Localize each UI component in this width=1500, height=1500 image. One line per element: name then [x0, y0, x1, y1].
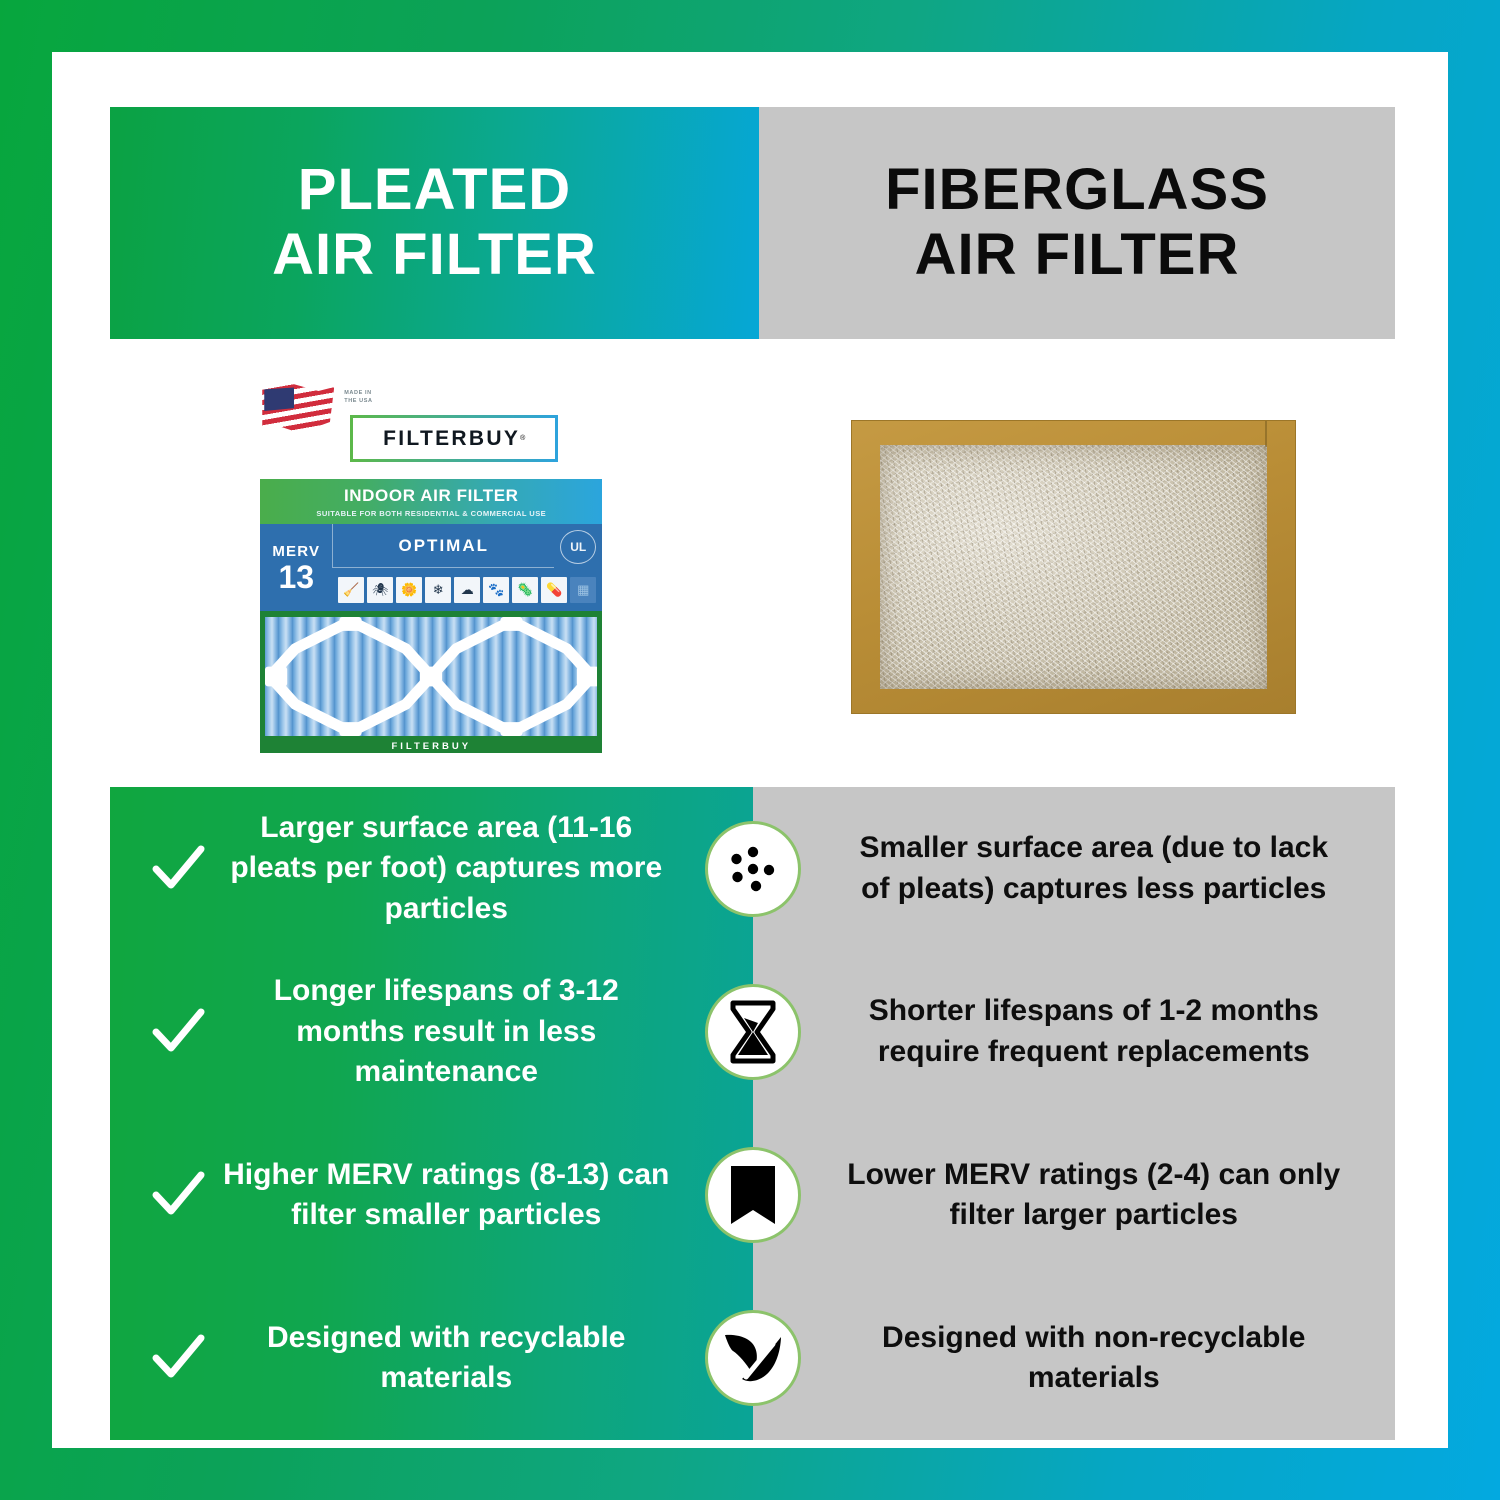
flag-union: [264, 387, 294, 411]
pleated-media-area: FILTERBUY: [260, 611, 602, 753]
row1-fiberglass-cell: Smaller surface area (due to lack of ple…: [753, 787, 1396, 950]
chip-icon-dander: 🐾: [483, 577, 509, 603]
merv-value: 13: [278, 561, 314, 593]
made-in-usa-text: MADE IN THE USA: [344, 390, 372, 406]
leaf-eco-icon: [705, 1310, 801, 1406]
infographic-root: PLEATED AIR FILTER FIBERGLASS AIR FILTER: [0, 0, 1500, 1500]
pleated-header-title: PLEATED AIR FILTER: [272, 158, 597, 288]
row3-fiberglass-cell: Lower MERV ratings (2-4) can only filter…: [753, 1114, 1396, 1277]
filterbuy-logo-box: FILTERBUY®: [350, 415, 558, 462]
fiberglass-media: [880, 445, 1267, 689]
row4-fiberglass-text: Designed with non-recyclable materials: [845, 1318, 1344, 1399]
indoor-air-filter-title: INDOOR AIR FILTER: [344, 486, 519, 506]
pleated-header-line2: AIR FILTER: [272, 223, 597, 288]
comparison-row: Longer lifespans of 3-12 months result i…: [110, 950, 1395, 1113]
bookmark-icon: [705, 1147, 801, 1243]
row2-fiberglass-cell: Shorter lifespans of 1-2 months require …: [753, 950, 1396, 1113]
chip-icon-dust: 🧹: [338, 577, 364, 603]
fiberglass-header-line2: AIR FILTER: [885, 223, 1269, 288]
row4-pleated-text: Designed with recyclable materials: [218, 1318, 753, 1399]
chip-icon-bacteria: 💊: [541, 577, 567, 603]
fiberglass-header-title: FIBERGLASS AIR FILTER: [885, 158, 1269, 288]
row3-fiberglass-text: Lower MERV ratings (2-4) can only filter…: [845, 1155, 1344, 1236]
chip-icon-smoke: 🦠: [512, 577, 538, 603]
diamond-support-wire: [265, 617, 597, 736]
row2-pleated-text: Longer lifespans of 3-12 months result i…: [218, 971, 753, 1093]
product-image-row: MADE IN THE USA FILTERBUY® INDOOR AIR FI…: [110, 352, 1395, 782]
row1-pleated-text: Larger surface area (11-16 pleats per fo…: [218, 808, 753, 930]
check-icon: [144, 998, 212, 1066]
merv-badge: MERV 13: [260, 524, 332, 611]
grade-label: OPTIMAL: [399, 536, 490, 556]
comparison-rows: Larger surface area (11-16 pleats per fo…: [110, 787, 1395, 1440]
package-green-band: INDOOR AIR FILTER SUITABLE FOR BOTH RESI…: [260, 479, 602, 524]
row3-pleated-cell: Higher MERV ratings (8-13) can filter sm…: [110, 1114, 753, 1277]
comparison-panel: Larger surface area (11-16 pleats per fo…: [110, 787, 1395, 1440]
chip-icon-mold: ❄: [425, 577, 451, 603]
row4-fiberglass-cell: Designed with non-recyclable materials: [753, 1277, 1396, 1440]
chip-icon-extra: ▦: [570, 577, 596, 603]
check-icon: [144, 1161, 212, 1229]
row4-pleated-cell: Designed with recyclable materials: [110, 1277, 753, 1440]
fiberglass-filter-product-image: [852, 421, 1295, 713]
header-band: PLEATED AIR FILTER FIBERGLASS AIR FILTER: [110, 107, 1395, 339]
header-pleated: PLEATED AIR FILTER: [110, 107, 759, 339]
check-icon: [144, 1324, 212, 1392]
pleated-filter-product-image: MADE IN THE USA FILTERBUY® INDOOR AIR FI…: [260, 381, 602, 753]
particles-icon: [705, 821, 801, 917]
pleated-header-line1: PLEATED: [272, 158, 597, 223]
grade-area: OPTIMAL: [332, 524, 554, 568]
indoor-air-filter-subtitle: SUITABLE FOR BOTH RESIDENTIAL & COMMERCI…: [316, 509, 546, 518]
ul-certification-icon: UL: [560, 530, 596, 564]
comparison-row: Larger surface area (11-16 pleats per fo…: [110, 787, 1395, 950]
made-in-line2: THE USA: [344, 398, 372, 406]
filterbuy-logo-text: FILTERBUY: [383, 427, 520, 451]
row3-pleated-text: Higher MERV ratings (8-13) can filter sm…: [218, 1155, 753, 1236]
fiberglass-header-line1: FIBERGLASS: [885, 158, 1269, 223]
check-icon: [144, 835, 212, 903]
chip-icon-dustmites: 🕷: [367, 577, 393, 603]
row2-pleated-cell: Longer lifespans of 3-12 months result i…: [110, 950, 753, 1113]
registered-mark: ®: [520, 435, 525, 442]
blue-pleat-texture: [265, 617, 597, 736]
comparison-row: Higher MERV ratings (8-13) can filter sm…: [110, 1114, 1395, 1277]
row2-fiberglass-text: Shorter lifespans of 1-2 months require …: [845, 991, 1344, 1072]
row1-fiberglass-text: Smaller surface area (due to lack of ple…: [845, 828, 1344, 909]
pleated-product-cell: MADE IN THE USA FILTERBUY® INDOOR AIR FI…: [110, 352, 753, 782]
chip-icon-lint: ☁: [454, 577, 480, 603]
capability-icon-strip: 🧹 🕷 🌼 ❄ ☁ 🐾 🦠 💊 ▦: [332, 569, 602, 611]
white-canvas: PLEATED AIR FILTER FIBERGLASS AIR FILTER: [52, 52, 1448, 1448]
comparison-row: Designed with recyclable materials Desig…: [110, 1277, 1395, 1440]
package-blue-band: MERV 13 OPTIMAL UL 🧹 🕷 🌼 ❄ ☁: [260, 524, 602, 611]
row1-pleated-cell: Larger surface area (11-16 pleats per fo…: [110, 787, 753, 950]
merv-label: MERV: [272, 543, 320, 560]
header-fiberglass: FIBERGLASS AIR FILTER: [759, 107, 1395, 339]
hourglass-icon: [705, 984, 801, 1080]
package-footer-brand: FILTERBUY: [260, 741, 602, 752]
chip-icon-pollen: 🌼: [396, 577, 422, 603]
made-in-line1: MADE IN: [344, 390, 372, 398]
frame-corner-seam: [1265, 421, 1267, 447]
fiberglass-product-cell: [753, 352, 1396, 782]
